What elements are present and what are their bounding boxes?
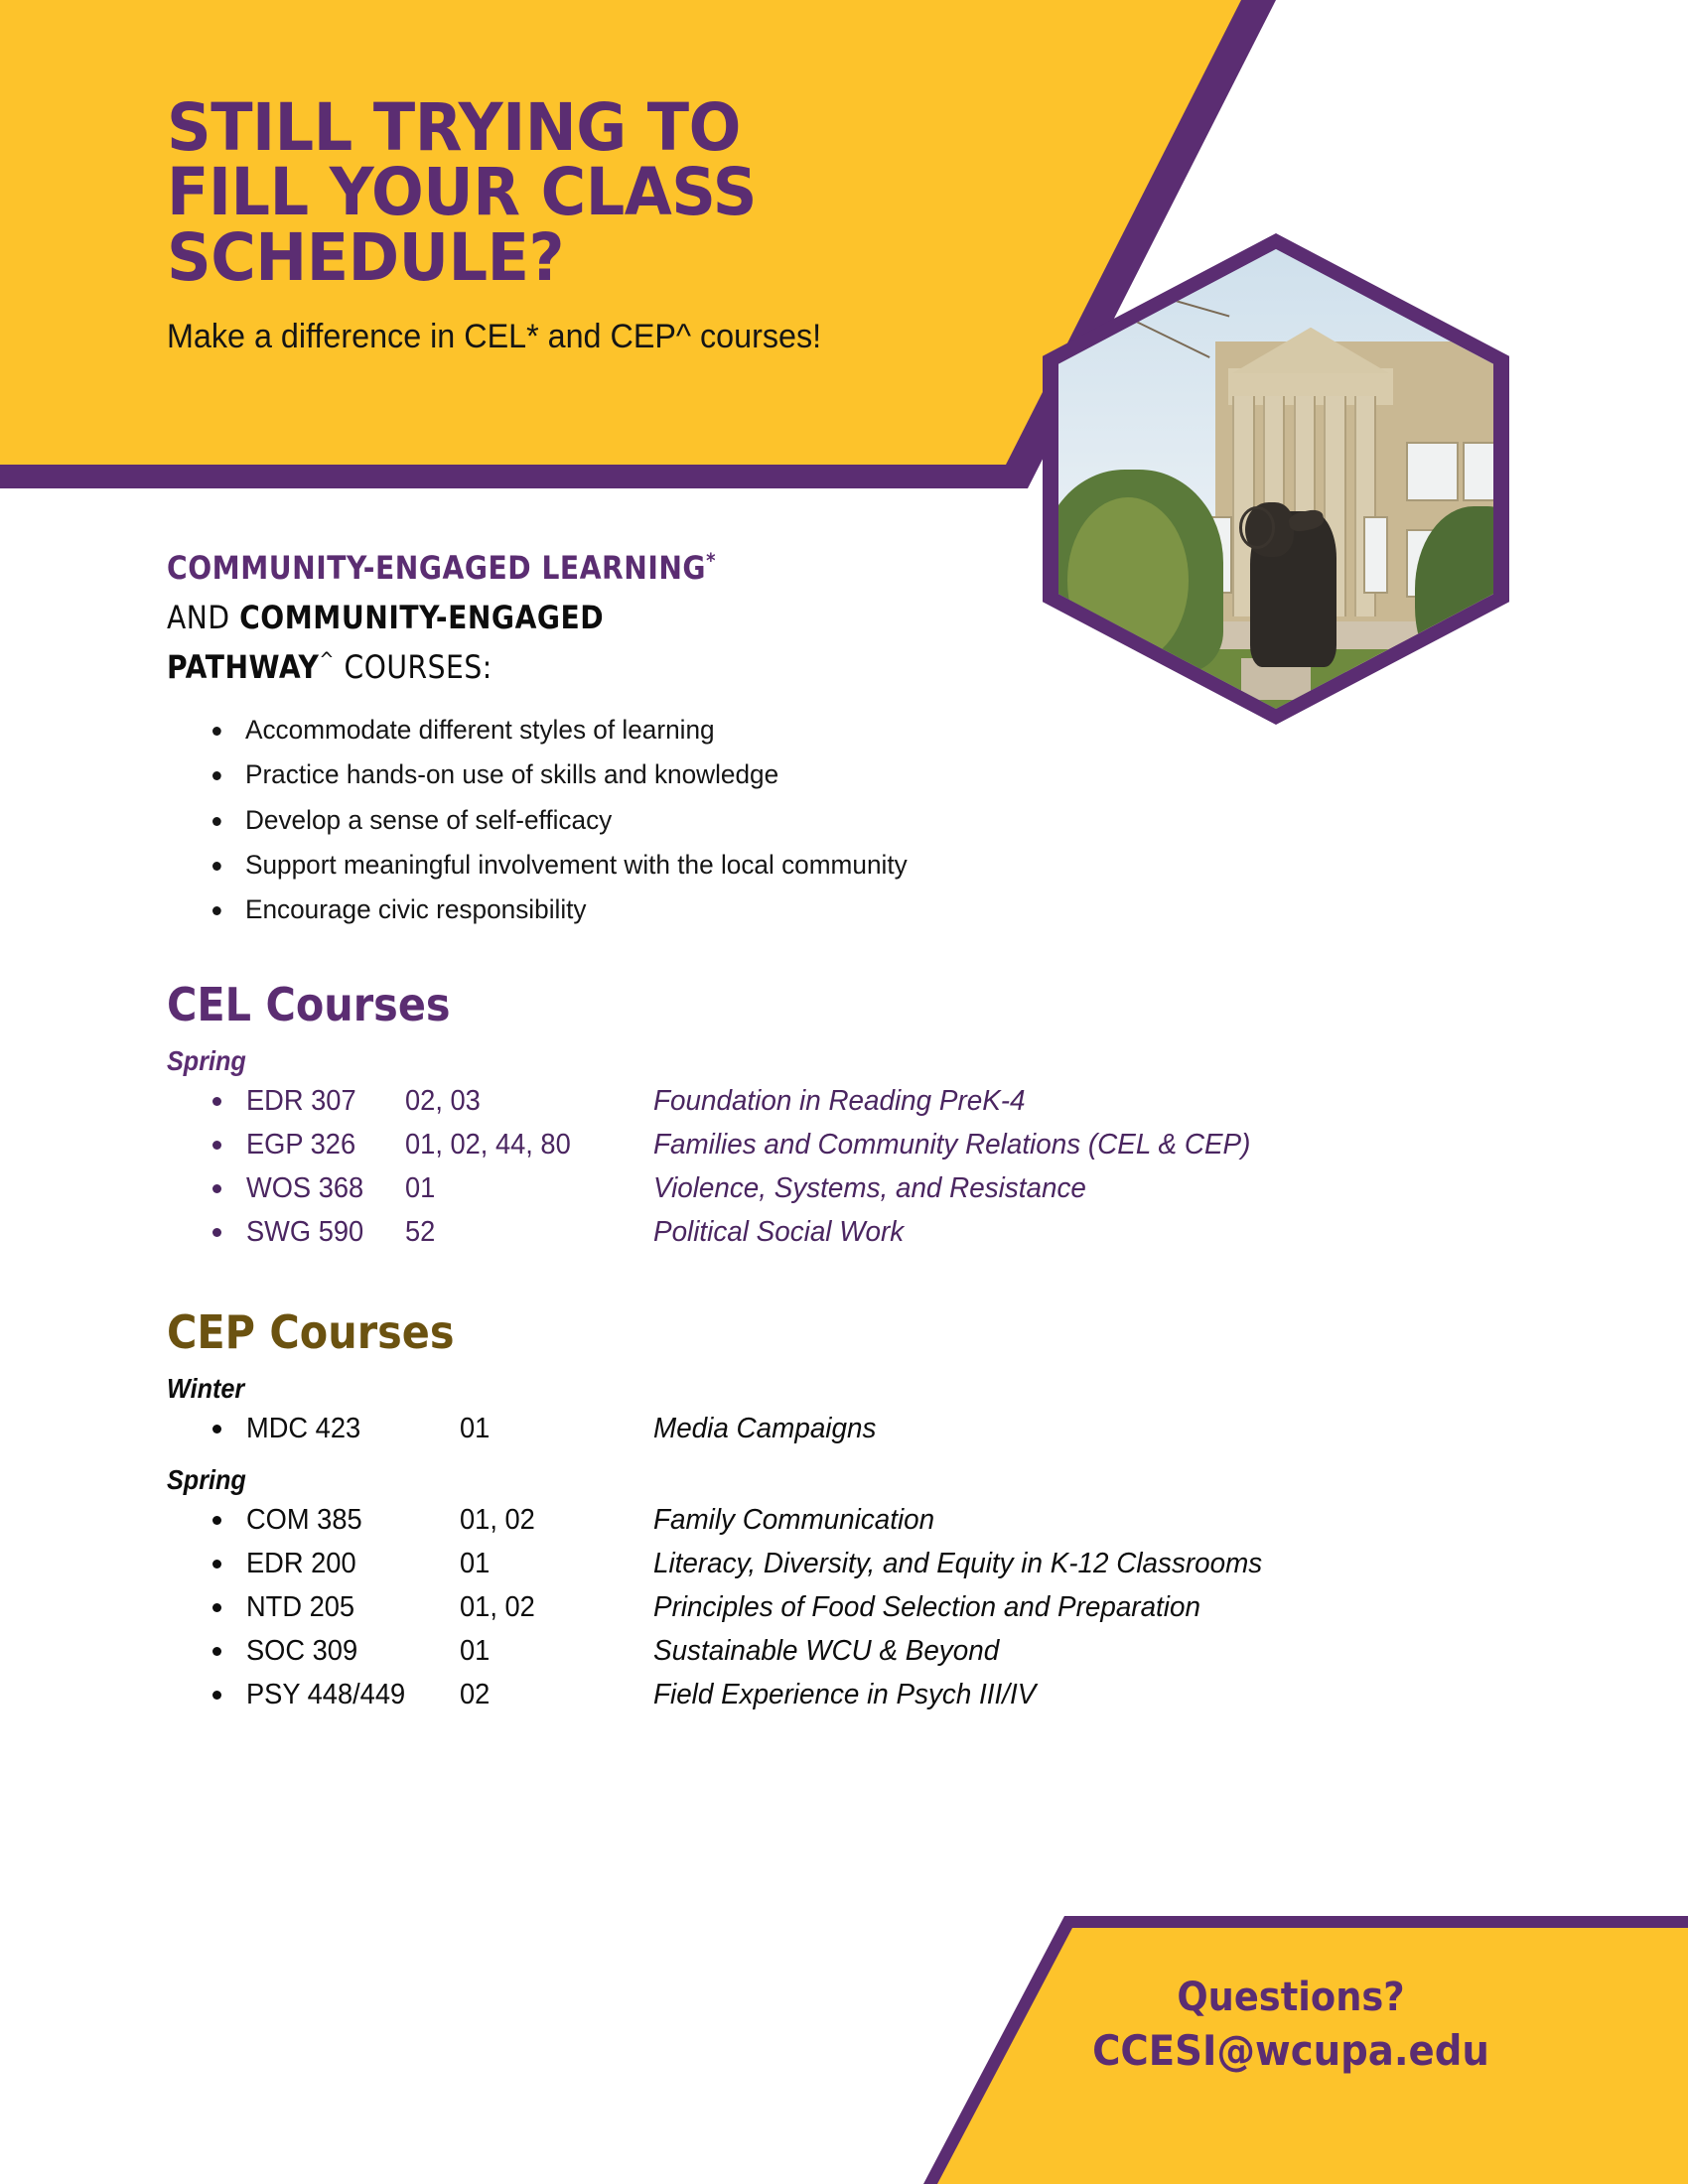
table-row: EDR 307 02, 03 Foundation in Reading Pre… (212, 1079, 1537, 1123)
footer-content: Questions? CCESI@wcupa.edu (923, 1972, 1658, 2080)
table-row: WOS 368 01 Violence, Systems, and Resist… (212, 1166, 1537, 1210)
cep-marker: ^ (319, 647, 335, 671)
course-title: Family Communication (653, 1498, 1501, 1542)
program-heading: COMMUNITY-ENGAGED LEARNING* AND COMMUNIT… (167, 544, 1372, 693)
cel-marker: * (706, 548, 716, 572)
questions-label: Questions? (953, 1972, 1629, 2023)
program-heading-line-2: AND COMMUNITY-ENGAGED (167, 594, 1372, 643)
header-subtitle: Make a difference in CEL* and CEP^ cours… (167, 312, 884, 363)
cep-winter-course-list: MDC 423 01 Media Campaigns (167, 1407, 1537, 1450)
table-row: COM 385 01, 02 Family Communication (212, 1498, 1537, 1542)
course-code: SWG 590 (246, 1210, 395, 1254)
header-content: STILL TRYING TO FILL YOUR CLASS SCHEDULE… (167, 95, 991, 363)
cep-term-winter: Winter (167, 1373, 1400, 1405)
course-title: Families and Community Relations (CEL & … (653, 1123, 1501, 1166)
course-sections: 01, 02 (460, 1498, 641, 1542)
list-item: Support meaningful involvement with the … (212, 846, 1497, 885)
course-sections: 01, 02, 44, 80 (405, 1123, 638, 1166)
list-item: Encourage civic responsibility (212, 890, 1497, 929)
course-code: EGP 326 (246, 1123, 395, 1166)
course-title: Violence, Systems, and Resistance (653, 1166, 1501, 1210)
course-code: NTD 205 (246, 1585, 447, 1629)
course-code: PSY 448/449 (246, 1673, 447, 1716)
photo-window (1463, 442, 1493, 501)
page-title: STILL TRYING TO FILL YOUR CLASS SCHEDULE… (167, 95, 941, 290)
course-code: EDR 200 (246, 1542, 447, 1585)
course-sections: 52 (405, 1210, 638, 1254)
cel-course-list: EDR 307 02, 03 Foundation in Reading Pre… (167, 1079, 1537, 1254)
course-title: Principles of Food Selection and Prepara… (653, 1585, 1501, 1629)
table-row: SOC 309 01 Sustainable WCU & Beyond (212, 1629, 1537, 1673)
course-code: EDR 307 (246, 1079, 395, 1123)
cep-term-spring: Spring (167, 1464, 1400, 1496)
list-item: Practice hands-on use of skills and know… (212, 755, 1497, 794)
cel-courses-heading: CEL Courses (167, 978, 1400, 1031)
course-sections: 02 (460, 1673, 641, 1716)
course-sections: 02, 03 (405, 1079, 638, 1123)
program-heading-line-3: PATHWAY^ COURSES: (167, 643, 1372, 693)
main-content: COMMUNITY-ENGAGED LEARNING* AND COMMUNIT… (167, 544, 1537, 1717)
course-sections: 01, 02 (460, 1585, 641, 1629)
footer-banner: Questions? CCESI@wcupa.edu (923, 1916, 1688, 2184)
course-title: Political Social Work (653, 1210, 1501, 1254)
flyer-page: STILL TRYING TO FILL YOUR CLASS SCHEDULE… (0, 0, 1688, 2184)
course-sections: 01 (405, 1166, 638, 1210)
course-code: SOC 309 (246, 1629, 447, 1673)
course-sections: 01 (460, 1629, 641, 1673)
course-title: Literacy, Diversity, and Equity in K-12 … (653, 1542, 1501, 1585)
table-row: MDC 423 01 Media Campaigns (212, 1407, 1537, 1450)
course-sections: 01 (460, 1542, 641, 1585)
course-sections: 01 (460, 1407, 641, 1450)
photo-window (1406, 442, 1458, 501)
course-code: MDC 423 (246, 1407, 447, 1450)
list-item: Accommodate different styles of learning (212, 711, 1497, 750)
cel-term-spring: Spring (167, 1045, 1400, 1077)
cep-courses-heading: CEP Courses (167, 1305, 1400, 1359)
benefits-list: Accommodate different styles of learning… (167, 711, 1537, 930)
table-row: EDR 200 01 Literacy, Diversity, and Equi… (212, 1542, 1537, 1585)
table-row: SWG 590 52 Political Social Work (212, 1210, 1537, 1254)
course-title: Sustainable WCU & Beyond (653, 1629, 1501, 1673)
contact-email[interactable]: CCESI@wcupa.edu (953, 2023, 1629, 2080)
list-item: Develop a sense of self-efficacy (212, 801, 1497, 840)
course-title: Media Campaigns (653, 1407, 1501, 1450)
course-code: WOS 368 (246, 1166, 395, 1210)
course-title: Field Experience in Psych III/IV (653, 1673, 1501, 1716)
title-line-3: SCHEDULE? (167, 219, 564, 296)
table-row: PSY 448/449 02 Field Experience in Psych… (212, 1673, 1537, 1716)
cep-spring-course-list: COM 385 01, 02 Family Communication EDR … (167, 1498, 1537, 1716)
course-title: Foundation in Reading PreK-4 (653, 1079, 1501, 1123)
table-row: EGP 326 01, 02, 44, 80 Families and Comm… (212, 1123, 1537, 1166)
course-code: COM 385 (246, 1498, 447, 1542)
table-row: NTD 205 01, 02 Principles of Food Select… (212, 1585, 1537, 1629)
program-heading-line-1: COMMUNITY-ENGAGED LEARNING* (167, 544, 1372, 594)
